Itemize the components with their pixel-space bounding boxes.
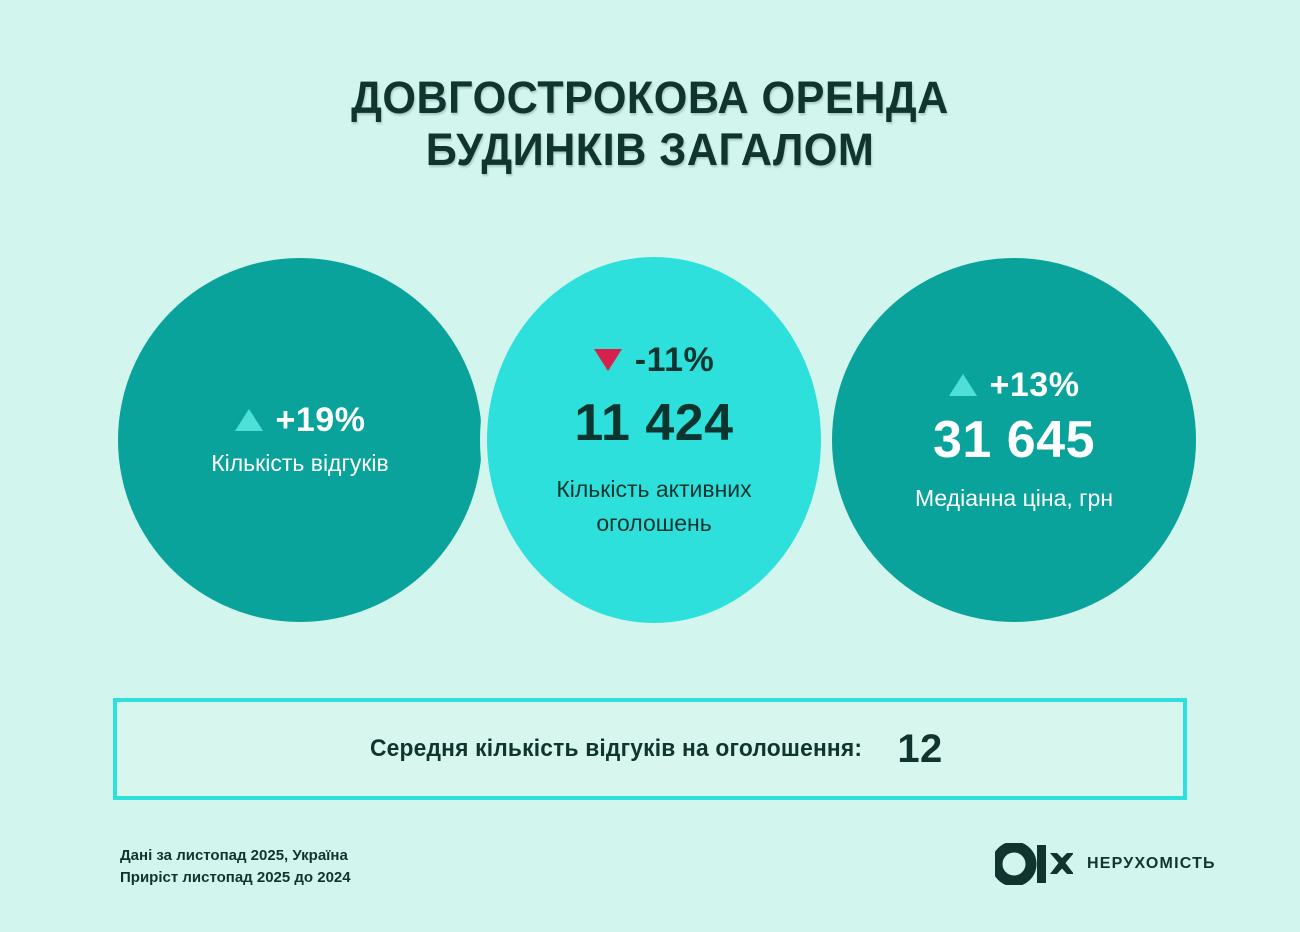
logo-text: НЕРУХОМІСТЬ [1087,855,1216,873]
summary-bar: Середня кількість відгуків на оголошення… [113,698,1187,800]
footer-note-line-1: Дані за листопад 2025, Україна [120,845,351,867]
triangle-up-icon [235,409,263,431]
footer-note-line-2: Приріст листопад 2025 до 2024 [120,867,351,889]
metric-delta-row-active-listings: -11% [594,341,715,380]
triangle-down-icon [594,349,622,371]
page-title-line-1: ДОВГОСТРОКОВА ОРЕНДА [26,72,1274,124]
metric-delta-row-median-price: +13% [949,366,1080,405]
metric-delta-reviews: +19% [276,401,366,440]
triangle-up-icon [949,374,977,396]
metric-circles-group: +19% Кількість відгуків +13% 31 645 Меді… [0,250,1300,640]
page-title-line-2: БУДИНКІВ ЗАГАЛОМ [26,124,1274,176]
olx-nerukhomist-logo: НЕРУХОМІСТЬ [995,843,1216,885]
metric-circle-median-price: +13% 31 645 Медіанна ціна, грн [832,258,1196,622]
metric-delta-active-listings: -11% [635,341,715,380]
metric-circle-reviews: +19% Кількість відгуків [118,258,482,622]
olx-logo-icon [995,843,1073,885]
metric-delta-median-price: +13% [990,366,1080,405]
summary-value: 12 [897,727,943,772]
summary-label: Середня кількість відгуків на оголошення… [370,735,862,763]
metric-caption-median-price: Медіанна ціна, грн [915,481,1113,515]
metric-value-active-listings: 11 424 [574,394,733,452]
metric-caption-reviews: Кількість відгуків [211,446,389,480]
metric-value-median-price: 31 645 [933,411,1095,469]
page-title: ДОВГОСТРОКОВА ОРЕНДА БУДИНКІВ ЗАГАЛОМ [0,72,1300,176]
footer-note: Дані за листопад 2025, Україна Приріст л… [120,845,351,889]
metric-delta-row-reviews: +19% [235,401,366,440]
metric-circle-active-listings: -11% 11 424 Кількість активних оголошень [480,250,828,630]
metric-caption-active-listings: Кількість активних оголошень [504,472,804,540]
